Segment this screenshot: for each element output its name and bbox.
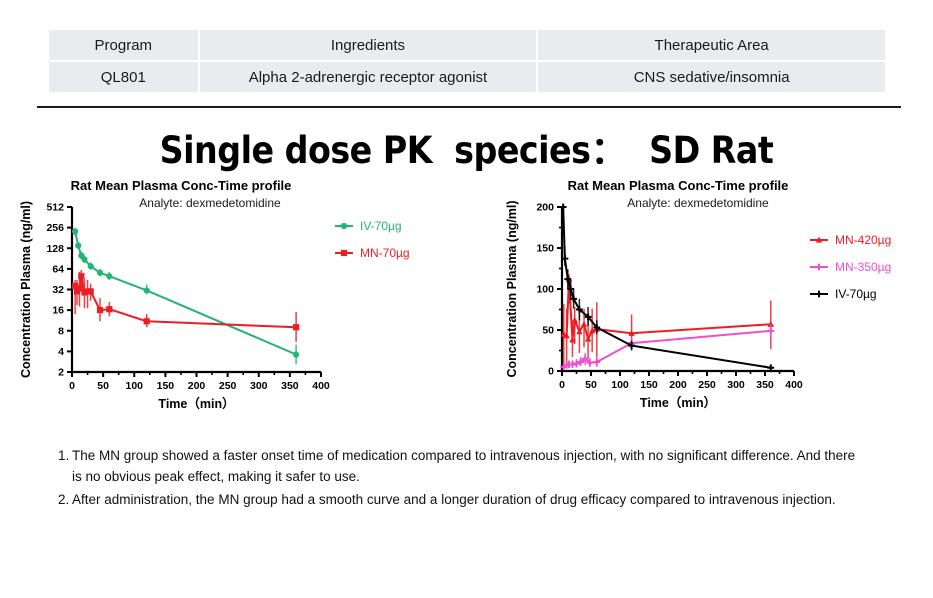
x-tick-label: 150 [640,379,658,391]
legend-label: IV-70µg [835,287,877,301]
legend-item-MN-350µg[interactable]: MN-350µg [810,260,891,274]
series-MN-70µg [72,270,299,342]
x-axis-label: Time（min） [640,395,716,410]
table-header-ingredients: Ingredients [199,29,538,61]
x-tick-label: 400 [785,379,803,391]
y-tick-label: 64 [52,263,64,275]
chart-left: Rat Mean Plasma Conc-Time profileAnalyte… [18,176,488,416]
page-title: Single dose PK species： SD Rat [0,120,933,174]
x-tick-label: 100 [125,380,143,392]
chart-axes [72,207,321,372]
data-point-marker [293,351,299,357]
data-point-marker [293,324,299,330]
legend-label: MN-350µg [835,260,891,274]
table-row: QL801 Alpha 2-adrenergic receptor agonis… [48,61,886,93]
y-tick-label: 200 [536,202,554,214]
x-tick-label: 50 [97,380,109,392]
x-tick-label: 200 [188,380,206,392]
data-point-marker [97,270,103,276]
legend-label: MN-420µg [835,233,891,247]
chart-subtitle: Analyte: dexmedetomidine [627,196,769,210]
note-number: 2. [58,489,72,510]
table-cell-therapeutic-area: CNS sedative/insomnia [537,61,886,93]
x-tick-label: 100 [611,379,629,391]
data-point-marker [78,273,84,279]
legend-label: IV-70µg [360,219,402,233]
table-cell-ingredients: Alpha 2-adrenergic receptor agonist [199,61,538,93]
legend-item-IV-70µg[interactable]: IV-70µg [335,219,402,233]
data-point-marker [106,273,112,279]
chart-right: Rat Mean Plasma Conc-Time profileAnalyte… [498,176,933,416]
y-tick-label: 8 [58,325,64,337]
chart-title: Rat Mean Plasma Conc-Time profile [71,178,292,193]
data-point-marker [106,306,112,312]
data-point-marker [72,228,78,234]
x-tick-label: 300 [727,379,745,391]
data-point-marker [81,256,87,262]
x-tick-label: 300 [250,380,268,392]
chart-svg-left: Rat Mean Plasma Conc-Time profileAnalyte… [18,176,488,416]
data-point-marker [88,263,94,269]
horizontal-divider [37,106,901,108]
legend-label: MN-70µg [360,246,410,260]
y-tick-label: 256 [46,222,64,234]
table-cell-program: QL801 [48,61,199,93]
legend-item-MN-420µg[interactable]: MN-420µg [810,233,891,247]
x-tick-label: 400 [312,380,330,392]
y-tick-label: 0 [548,366,554,378]
x-tick-label: 250 [698,379,716,391]
x-tick-label: 0 [559,379,565,391]
legend-item-MN-70µg[interactable]: MN-70µg [335,246,410,260]
y-tick-label: 4 [58,346,64,358]
data-point-marker [581,321,587,327]
note-number: 1. [58,445,72,466]
conclusion-notes: 1.The MN group showed a faster onset tim… [58,445,858,512]
data-point-marker [75,242,81,248]
y-tick-label: 512 [46,202,64,214]
table-header-program: Program [48,29,199,61]
data-point-marker [341,223,347,229]
y-tick-label: 32 [52,284,64,296]
x-axis-label: Time（min） [158,396,234,411]
y-axis-label: Concentration Plasma (ng/ml) [505,200,519,377]
chart-title: Rat Mean Plasma Conc-Time profile [568,178,789,193]
x-tick-label: 50 [585,379,597,391]
x-tick-label: 150 [157,380,175,392]
y-tick-label: 16 [52,305,64,317]
chart-subtitle: Analyte: dexmedetomidine [139,196,281,210]
note-text: After administration, the MN group had a… [72,489,858,510]
data-point-marker [88,288,94,294]
data-point-marker [572,317,578,323]
series-line [75,276,296,327]
x-tick-label: 0 [69,380,75,392]
data-point-marker [97,307,103,313]
data-point-marker [560,204,567,211]
series-IV-70µg [72,228,299,364]
x-tick-label: 350 [281,380,299,392]
y-tick-label: 100 [536,284,554,296]
data-point-marker [341,250,347,256]
note-item: 1.The MN group showed a faster onset tim… [58,445,858,487]
data-point-marker [816,291,823,298]
table-header-therapeutic-area: Therapeutic Area [537,29,886,61]
series-line [563,207,771,368]
note-item: 2.After administration, the MN group had… [58,489,858,510]
x-tick-label: 250 [219,380,237,392]
table-header-row: Program Ingredients Therapeutic Area [48,29,886,61]
data-point-marker [767,327,774,334]
y-tick-label: 150 [536,243,554,255]
legend-item-IV-70µg[interactable]: IV-70µg [810,287,877,301]
y-tick-label: 50 [542,325,554,337]
data-point-marker [144,287,150,293]
data-point-marker [816,264,823,271]
x-tick-label: 350 [756,379,774,391]
chart-svg-right: Rat Mean Plasma Conc-Time profileAnalyte… [498,176,933,416]
program-info-table: Program Ingredients Therapeutic Area QL8… [47,28,887,94]
x-tick-label: 200 [669,379,687,391]
y-axis-label: Concentration Plasma (ng/ml) [19,201,33,378]
data-point-marker [144,318,150,324]
series-line [75,231,296,354]
note-text: The MN group showed a faster onset time … [72,445,858,487]
y-tick-label: 2 [58,367,64,379]
y-tick-label: 128 [46,243,64,255]
